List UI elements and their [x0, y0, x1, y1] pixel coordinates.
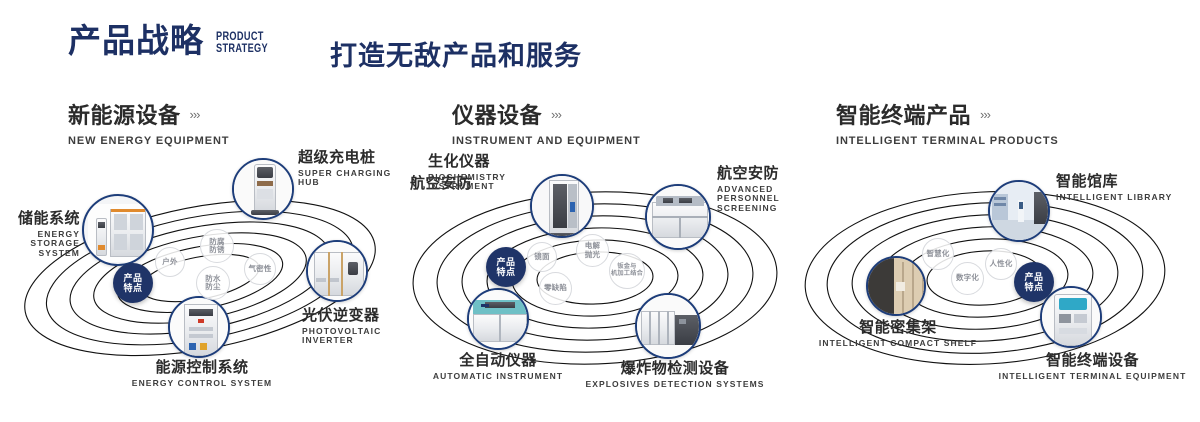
node-intelligent-library[interactable] [988, 180, 1050, 242]
node-label-en: AUTOMATIC INSTRUMENT [418, 372, 578, 382]
node-label-en: INTELLIGENT LIBRARY [1056, 193, 1186, 203]
node-label-en: INTELLIGENT TERMINAL EQUIPMENT [995, 372, 1190, 382]
node-label-explosives-detection-system: 爆炸物检测设备 EXPLOSIVES DETECTION SYSTEMS [585, 361, 765, 389]
feature-bubble-1: 电解抛光 [576, 234, 609, 267]
node-advanced-personnel-screening[interactable] [645, 184, 711, 250]
masthead-title-en-line2: STRATEGY [216, 43, 268, 55]
feature-bubble-0: 智慧化 [922, 238, 954, 270]
node-label-intelligent-library: 智能馆库 INTELLIGENT LIBRARY [1056, 174, 1186, 202]
feature-bubble-1: 防腐防锈 [200, 229, 234, 263]
node-label-cn: 智能终端设备 [995, 353, 1190, 370]
node-label-cn: 储能系统 [0, 211, 80, 228]
masthead-title-en-line1: PRODUCT [216, 31, 264, 43]
diagram-intelligent-terminal: 智能馆库 INTELLIGENT LIBRARY 智能密集架 INTELLIGE… [790, 148, 1190, 408]
masthead-title-en: PRODUCT STRATEGY [216, 31, 268, 55]
compact-shelf-art [868, 258, 924, 314]
node-label-en: BIOCHEMISTRY INSTRUMENT [428, 173, 548, 192]
section-header-en: INSTRUMENT AND EQUIPMENT [452, 135, 641, 147]
screening-machine-art [647, 186, 709, 248]
feature-bubble-0: 镜面 [527, 242, 557, 272]
section-header-new-energy: 新能源设备››› NEW ENERGY EQUIPMENT [68, 98, 229, 147]
node-label-intelligent-terminal-equipment: 智能终端设备 INTELLIGENT TERMINAL EQUIPMENT [995, 353, 1190, 381]
core-bubble-product-features: 产品特点 [1014, 262, 1054, 302]
node-automatic-instrument[interactable] [467, 288, 529, 350]
core-bubble-product-features: 产品特点 [113, 263, 153, 303]
node-label-energy-storage-system: 储能系统 ENERGY STORAGE SYSTEM [0, 211, 80, 258]
node-label-cn: 生化仪器 [428, 154, 548, 171]
node-energy-storage-system[interactable] [82, 194, 154, 266]
feature-bubble-2: 零缺陷 [539, 272, 572, 305]
node-label-automatic-instrument: 全自动仪器 AUTOMATIC INSTRUMENT [418, 353, 578, 381]
node-label-biochemistry-instrument: 生化仪器 BIOCHEMISTRY INSTRUMENT [428, 154, 548, 192]
node-energy-control-system[interactable] [168, 296, 230, 358]
control-cabinet-art [170, 298, 228, 356]
inverter-cabinet-art [308, 242, 366, 300]
feature-bubble-3: 气密性 [244, 253, 276, 285]
chevron-right-icon: ››› [551, 107, 561, 122]
diagram-instrument: 航空安防 生化仪器 BIOCHEMISTRY INSTRUMENT [395, 148, 795, 408]
node-photovoltaic-inverter[interactable] [306, 240, 368, 302]
node-label-en: ENERGY STORAGE SYSTEM [0, 230, 80, 259]
node-label-cn: 智能密集架 [814, 320, 982, 337]
masthead: 产品战略 PRODUCT STRATEGY [68, 24, 281, 57]
chevron-right-icon: ››› [980, 107, 990, 122]
section-header-cn: 新能源设备 [68, 98, 181, 130]
poster-root: 产品战略 PRODUCT STRATEGY 打造无敌产品和服务 新能源设备›››… [0, 0, 1200, 422]
chevron-right-icon: ››› [190, 107, 200, 122]
terminal-kiosk-art [1042, 288, 1100, 346]
node-intelligent-compact-shelf[interactable] [866, 256, 926, 316]
node-label-cn: 能源控制系统 [82, 360, 322, 377]
diagram-new-energy: 储能系统 ENERGY STORAGE SYSTEM 超级充电桩 SUPER C… [0, 148, 400, 408]
node-label-en: EXPLOSIVES DETECTION SYSTEMS [585, 380, 765, 390]
node-label-cn: 爆炸物检测设备 [585, 361, 765, 378]
masthead-title-cn: 产品战略 [68, 24, 204, 57]
automatic-instrument-art [469, 290, 527, 348]
feature-bubble-0: 户外 [155, 247, 185, 277]
section-header-instrument: 仪器设备››› INSTRUMENT AND EQUIPMENT [452, 98, 641, 147]
node-label-energy-control-system: 能源控制系统 ENERGY CONTROL SYSTEM [82, 360, 322, 388]
section-header-intelligent-terminal: 智能终端产品››› INTELLIGENT TERMINAL PRODUCTS [836, 98, 1059, 147]
node-super-charging-hub[interactable] [232, 158, 294, 220]
feature-bubble-3: 钣金与机加工结合 [609, 253, 645, 289]
section-header-en: NEW ENERGY EQUIPMENT [68, 135, 229, 147]
section-header-en: INTELLIGENT TERMINAL PRODUCTS [836, 135, 1059, 147]
feature-bubble-2: 人性化 [985, 248, 1017, 280]
section-header-cn: 智能终端产品 [836, 98, 971, 130]
node-label-en: INTELLIGENT COMPACT SHELF [814, 339, 982, 349]
node-label-cn: 超级充电桩 [298, 150, 408, 167]
section-header-cn: 仪器设备 [452, 98, 542, 130]
energy-storage-cabinet-art [84, 196, 152, 264]
node-intelligent-terminal-equipment[interactable] [1040, 286, 1102, 348]
masthead-subtitle: 打造无敌产品和服务 [330, 34, 582, 73]
feature-bubble-1: 数字化 [951, 262, 984, 295]
feature-bubble-2: 防水防尘 [196, 266, 230, 300]
node-explosives-detection-system[interactable] [635, 293, 701, 359]
charging-pile-art [234, 160, 292, 218]
node-label-intelligent-compact-shelf: 智能密集架 INTELLIGENT COMPACT SHELF [814, 320, 982, 348]
core-bubble-product-features: 产品特点 [486, 247, 526, 287]
library-room-art [990, 182, 1048, 240]
node-label-cn: 全自动仪器 [418, 353, 578, 370]
explosive-detector-art [637, 295, 699, 357]
node-label-en: ENERGY CONTROL SYSTEM [82, 379, 322, 389]
node-label-cn: 智能馆库 [1056, 174, 1186, 191]
